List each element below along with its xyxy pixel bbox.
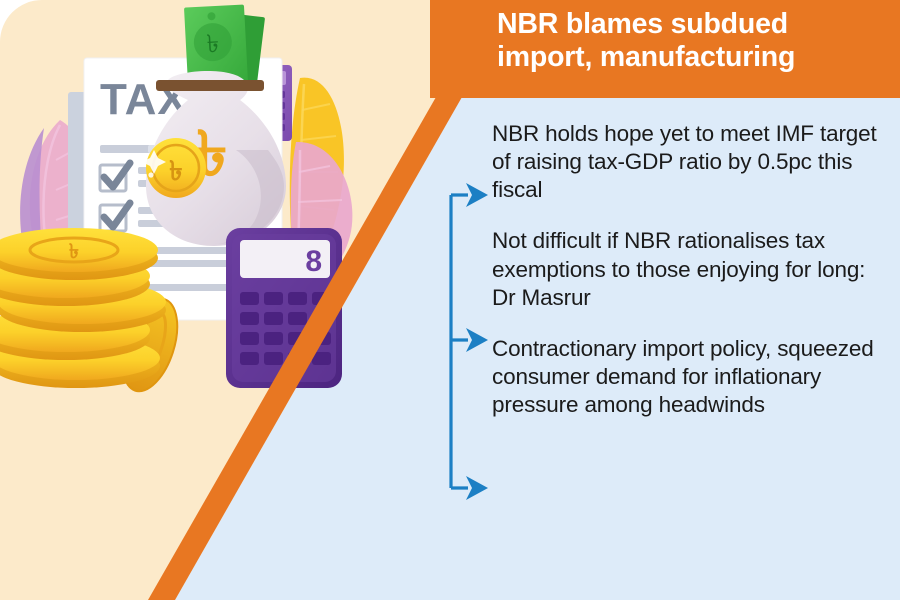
banknote-taka-symbol: ৳	[206, 30, 220, 59]
calculator-display-value: 8	[305, 245, 322, 278]
headline-line-2: import, manufacturing	[497, 41, 887, 74]
tax-illustration: TAX	[0, 0, 470, 600]
svg-text:৳: ৳	[169, 156, 182, 186]
bag-tie	[156, 80, 264, 91]
bullet-item-1: NBR holds hope yet to meet IMF target of…	[492, 120, 888, 204]
bullet-item-2: Not difficult if NBR rationalises tax ex…	[492, 227, 888, 311]
arrow-heads	[466, 183, 488, 500]
svg-text:৳: ৳	[69, 241, 79, 263]
bullet-list: NBR holds hope yet to meet IMF target of…	[492, 120, 888, 419]
headline-line-1: NBR blames subdued	[497, 8, 887, 41]
infographic-root: TAX	[0, 0, 900, 600]
headline: NBR blames subdued import, manufacturing	[497, 8, 887, 75]
bullet-item-3: Contractionary import policy, squeezed c…	[492, 335, 888, 419]
arrow-bracket	[440, 170, 500, 510]
